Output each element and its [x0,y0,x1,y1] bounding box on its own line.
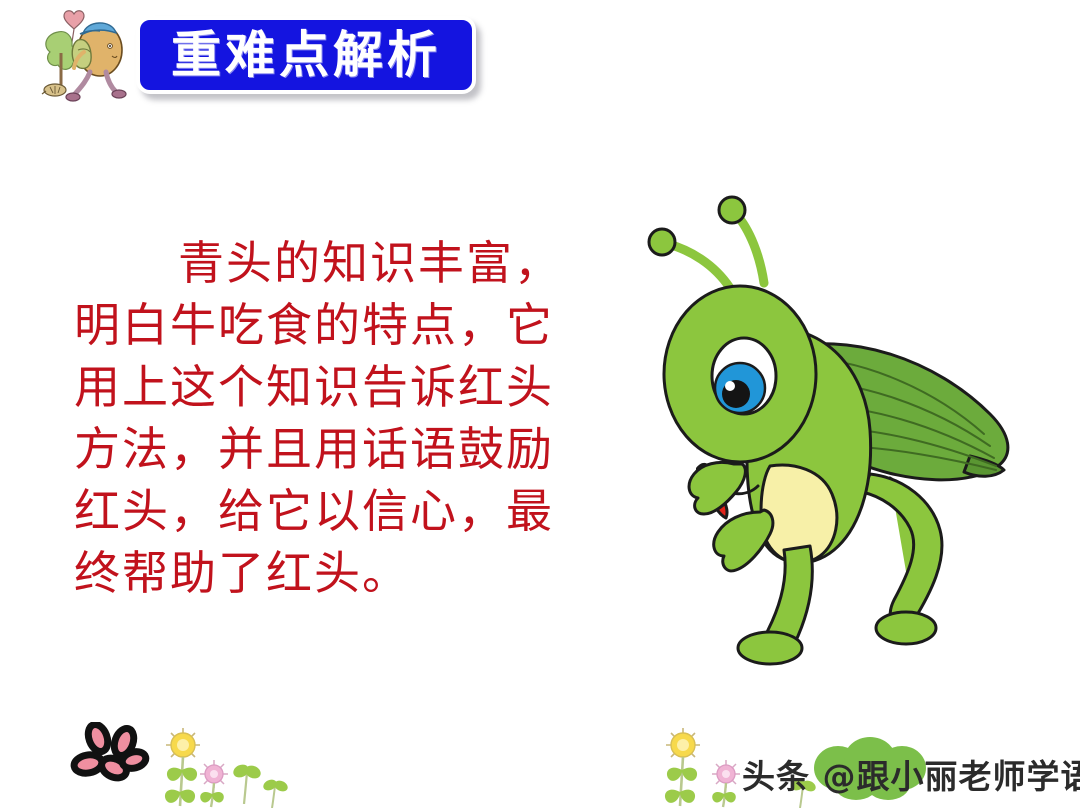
body-paragraph: 青头的知识丰富， 明白牛吃食的特点，它 用上这个知识告诉红头 方法，并且用话语鼓… [74,232,604,604]
pink-flower-icon [70,722,150,784]
body-line: 用上这个知识告诉红头 [74,356,604,418]
slide-canvas: 重难点解析 青头的知识丰富， 明白牛吃食的特点，它 用上这个知识告诉红头 方法，… [0,0,1080,810]
body-line: 终帮助了红头。 [74,542,604,604]
title-banner: 重难点解析 [136,16,476,94]
body-line: 明白牛吃食的特点，它 [74,294,604,356]
sprout-icon [262,778,288,808]
body-line: 红头，给它以信心，最 [74,480,604,542]
watermark: 头条 @跟小丽老师学语文 [742,748,1080,800]
sprout-icon [232,762,262,804]
body-line: 青头的知识丰富， [74,232,604,294]
body-line: 方法，并且用话语鼓励 [74,418,604,480]
page-title: 重难点解析 [171,30,441,80]
walking-egg-character-icon [28,8,136,108]
watermark-label: 头条 @跟小丽老师学语文 [742,750,1080,798]
grasshopper-illustration [618,178,1028,668]
slide-header: 重难点解析 [0,0,1080,120]
